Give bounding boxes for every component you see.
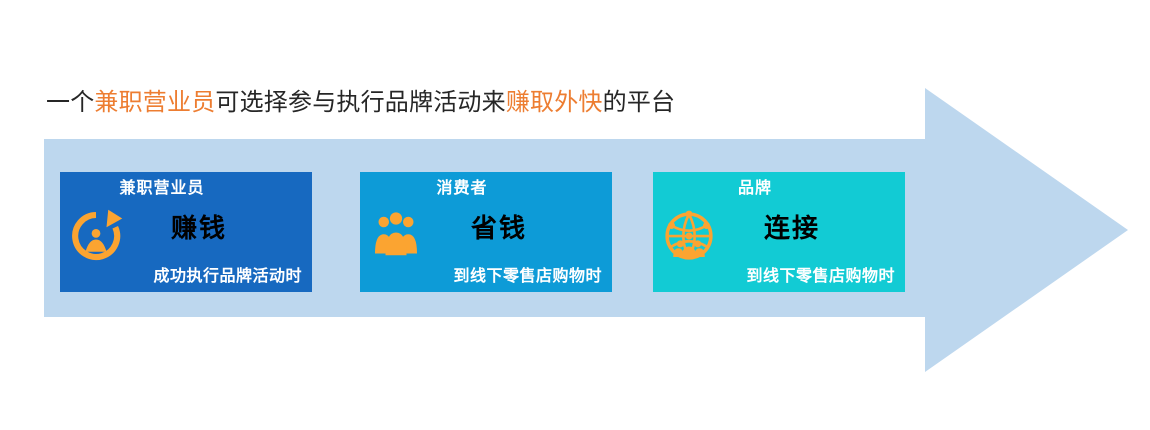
card-subtitle: 到线下零售店购物时	[453, 266, 602, 288]
card-main-label: 连接	[653, 212, 905, 246]
card-main-label: 赚钱	[60, 212, 312, 246]
card-brand[interactable]: 品牌 连接 到线下零售店购物时	[653, 172, 905, 292]
card-header-label: 兼职营业员	[60, 178, 312, 200]
card-header-label: 消费者	[360, 178, 612, 200]
card-main-label: 省钱	[360, 212, 612, 246]
diagram-canvas: 一个兼职营业员可选择参与执行品牌活动来赚取外快的平台 兼职营业员 赚钱 成功执行…	[0, 0, 1150, 430]
card-subtitle: 到线下零售店购物时	[746, 266, 895, 288]
card-consumer[interactable]: 消费者 省钱 到线下零售店购物时	[360, 172, 612, 292]
card-part-time-clerk[interactable]: 兼职营业员 赚钱 成功执行品牌活动时	[60, 172, 312, 292]
card-header-label: 品牌	[653, 178, 905, 200]
card-subtitle: 成功执行品牌活动时	[153, 266, 302, 288]
